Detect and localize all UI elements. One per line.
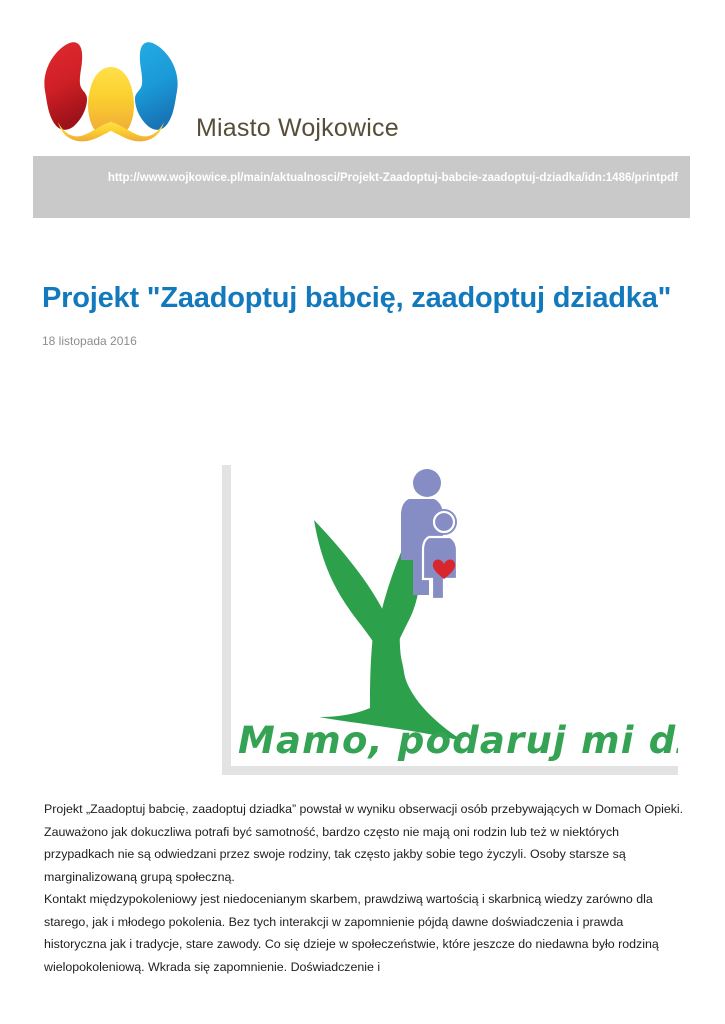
site-title: Miasto Wojkowice bbox=[196, 114, 399, 143]
printable-article-page: Miasto Wojkowice http://www.wojkowice.pl… bbox=[0, 0, 725, 1024]
poster-bottom-border bbox=[222, 766, 678, 775]
page-header: Miasto Wojkowice bbox=[0, 0, 725, 155]
article-poster-image: Mamo, podaruj mi dziadka bbox=[222, 465, 678, 775]
poster-left-border bbox=[222, 465, 231, 775]
source-url-text: http://www.wojkowice.pl/main/aktualnosci… bbox=[45, 168, 678, 188]
source-url-bar: http://www.wojkowice.pl/main/aktualnosci… bbox=[33, 156, 690, 218]
article-body: Projekt „Zaadoptuj babcię, zaadoptuj dzi… bbox=[44, 798, 685, 978]
publish-date: 18 listopada 2016 bbox=[42, 334, 687, 348]
poster-artwork: Mamo, podaruj mi dziadka bbox=[231, 465, 678, 766]
article-paragraph: Projekt „Zaadoptuj babcię, zaadoptuj dzi… bbox=[44, 798, 685, 888]
page-title: Projekt "Zaadoptuj babcię, zaadoptuj dzi… bbox=[42, 280, 687, 317]
poster-caption-text: Mamo, podaruj mi dziadka bbox=[238, 719, 678, 762]
article-paragraph: Kontakt międzypokoleniowy jest niedoceni… bbox=[44, 888, 685, 978]
article-header: Projekt "Zaadoptuj babcię, zaadoptuj dzi… bbox=[42, 280, 687, 348]
wojkowice-w-logo-icon bbox=[36, 38, 186, 143]
